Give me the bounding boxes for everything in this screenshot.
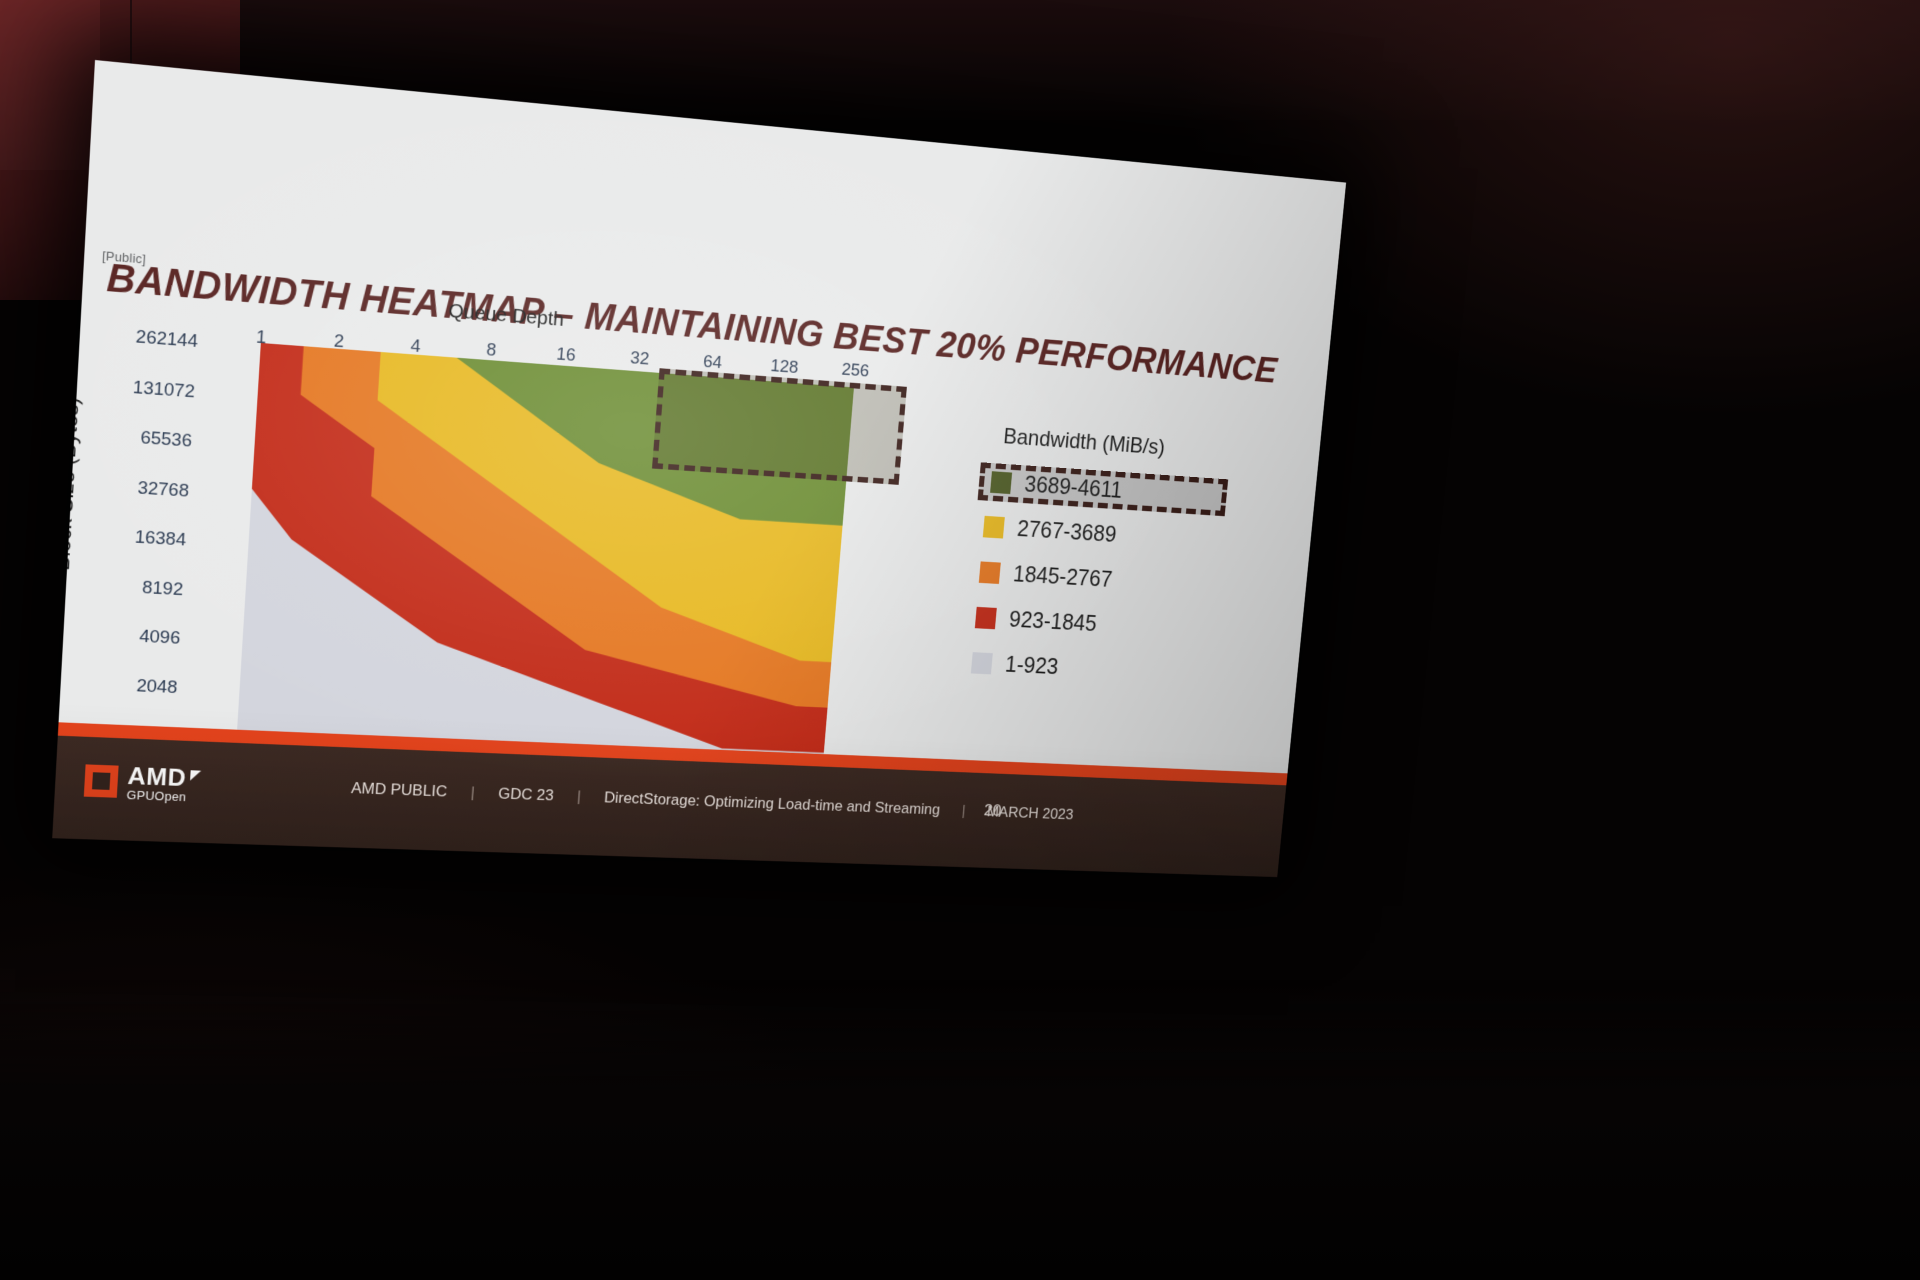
projection-screen-wrap: [Public] BANDWIDTH HEATMAP – MAINTAINING…: [0, 0, 1920, 1280]
footer-separator: |: [961, 802, 966, 820]
x-tick-label: 32: [629, 348, 650, 370]
legend-item-label: 923-1845: [1008, 606, 1098, 636]
y-tick-label: 16384: [134, 527, 187, 551]
legend-swatch-icon: [979, 561, 1001, 584]
x-tick-label: 16: [556, 344, 577, 366]
x-tick-label: 128: [770, 356, 799, 378]
legend-item: 923-1845: [974, 602, 1247, 647]
legend-item-label: 3689-4611: [1023, 471, 1123, 503]
y-tick-label: 262144: [135, 327, 198, 353]
legend-item: 1845-2767: [978, 557, 1251, 603]
amd-gpuopen-logo: AMD GPUOpen: [84, 762, 202, 805]
y-tick-label: 2048: [136, 676, 178, 699]
legend-swatch-icon: [975, 607, 997, 629]
legend-item: 3689-4611: [978, 462, 1229, 516]
x-tick-label: 8: [486, 340, 497, 362]
gpuopen-logo-sub: GPUOpen: [126, 789, 199, 804]
y-axis-ticks: 2621441310726553632768163848192409620481…: [80, 326, 198, 335]
y-tick-label: 65536: [140, 428, 193, 453]
projection-screen: [Public] BANDWIDTH HEATMAP – MAINTAINING…: [52, 60, 1346, 877]
legend-swatch-icon: [971, 652, 993, 674]
footer-item: GDC 23: [498, 785, 555, 805]
legend-swatch-icon: [983, 516, 1005, 539]
y-tick-label: 8192: [142, 577, 184, 600]
legend-item-label: 2767-3689: [1016, 516, 1117, 548]
legend-item-label: 1-923: [1004, 652, 1059, 680]
amd-square-icon: [84, 765, 119, 798]
footer-separator: |: [470, 784, 475, 802]
footer-item: DirectStorage: Optimizing Load-time and …: [603, 789, 940, 819]
presentation-slide: [Public] BANDWIDTH HEATMAP – MAINTAINING…: [52, 60, 1346, 877]
x-tick-label: 256: [841, 360, 870, 382]
legend-title: Bandwidth (MiB/s): [1002, 424, 1264, 467]
best-performance-highlight-box: [652, 368, 907, 485]
legend: Bandwidth (MiB/s) 3689-46112767-36891845…: [969, 423, 1264, 705]
y-tick-label: 4096: [139, 627, 181, 650]
legend-item-label: 1845-2767: [1012, 561, 1113, 592]
footer-item: AMD PUBLIC: [351, 779, 448, 801]
legend-item: 1-923: [970, 648, 1242, 691]
page-number: 20: [983, 801, 1002, 821]
legend-item: 2767-3689: [982, 511, 1255, 558]
footer-items: AMD PUBLIC|GDC 23|DirectStorage: Optimiz…: [351, 779, 1075, 824]
footer-separator: |: [576, 788, 581, 806]
legend-swatch-icon: [990, 471, 1012, 494]
amd-arrow-icon: [190, 770, 201, 781]
amd-logo-name: AMD: [127, 761, 187, 791]
y-axis-title: Block Size (Bytes): [52, 396, 84, 571]
y-tick-label: 32768: [137, 478, 190, 502]
y-tick-label: 131072: [132, 377, 195, 403]
